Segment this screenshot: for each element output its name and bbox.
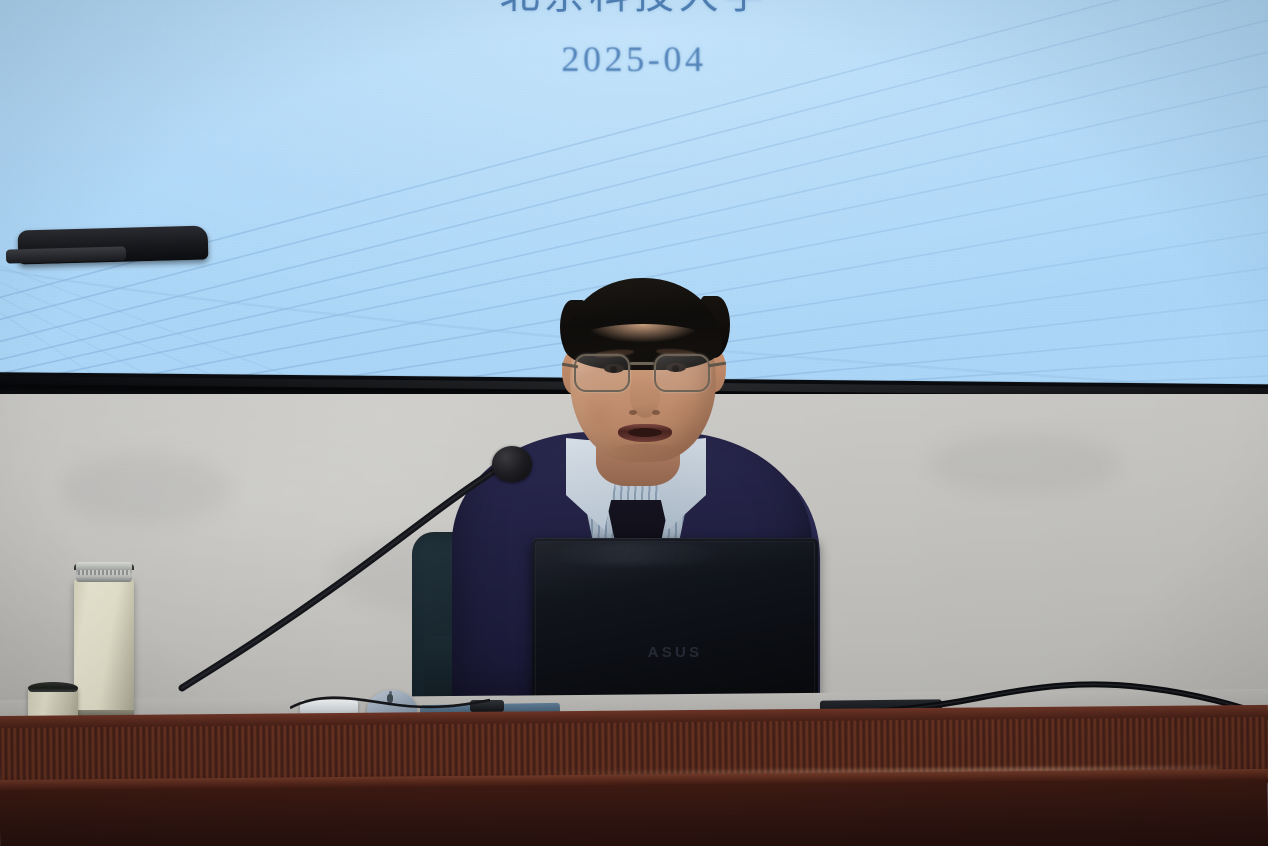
- laptop-brand-logo: ASUS: [648, 644, 703, 661]
- nostril-right: [652, 410, 660, 415]
- thermos-detached-lid-top: [28, 682, 78, 692]
- lectern-front-face: [0, 779, 1268, 846]
- mouth-opening: [628, 428, 662, 437]
- eyeglass-bridge: [630, 362, 654, 365]
- eyeglass-lens-left: [574, 354, 630, 392]
- wooden-lectern: [0, 716, 1268, 846]
- cheek-shading-left: [582, 392, 618, 436]
- photograph-canvas: 北京科技大学 2025-04: [0, 0, 1268, 846]
- gooseneck-microphone: [140, 440, 560, 730]
- cheek-shading-right: [668, 392, 704, 436]
- thermos-flask[interactable]: 竹报平安 不锈钢真空杯: [74, 578, 134, 718]
- laptop-specular-highlight: [546, 543, 726, 565]
- thermos-thread-ring: [78, 570, 130, 575]
- nostril-left: [629, 410, 637, 415]
- eyeglass-lens-right: [654, 354, 710, 392]
- chin-shadow: [606, 444, 684, 460]
- microphone-capsule: [492, 446, 532, 482]
